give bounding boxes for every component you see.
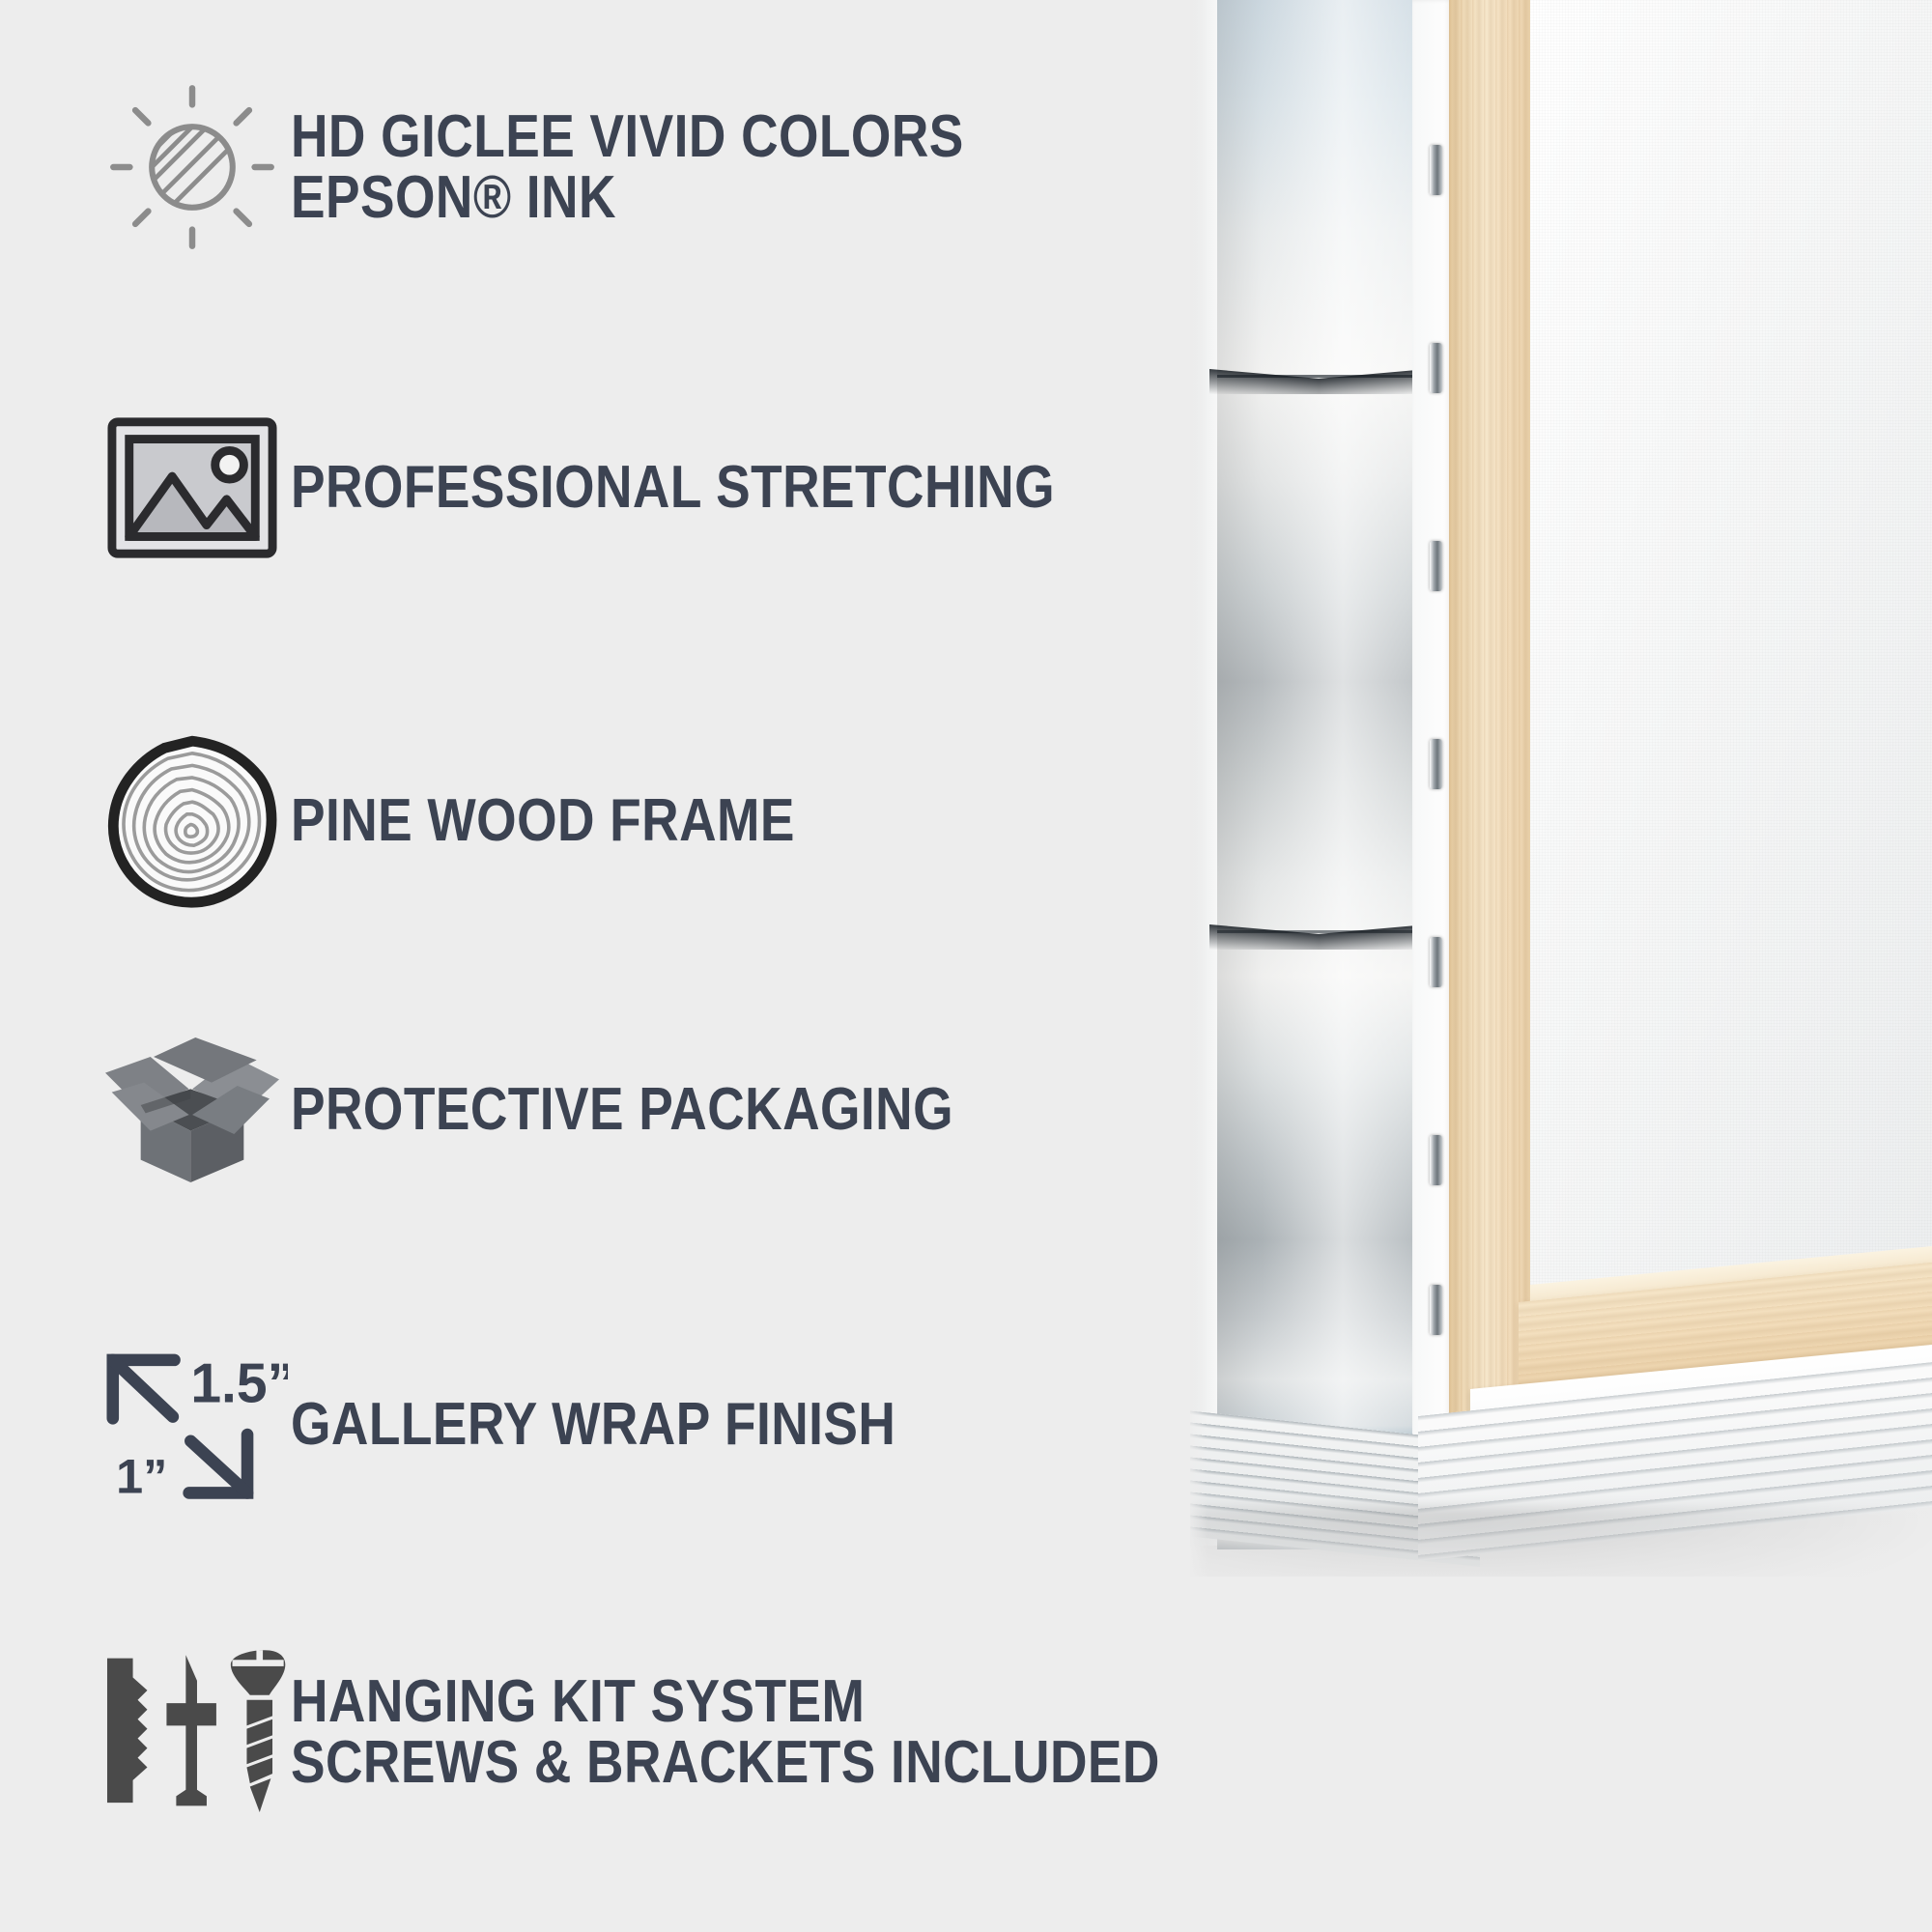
staple <box>1430 343 1442 393</box>
feature-label-line: HD GICLEE VIVID COLORS <box>291 106 964 167</box>
staple <box>1430 1135 1442 1185</box>
feature-label-hd-giclee: HD GICLEE VIVID COLORS EPSON® INK <box>291 106 964 228</box>
icon-slot <box>93 734 291 908</box>
feature-label-line: PROTECTIVE PACKAGING <box>291 1079 953 1140</box>
gallery-wrapped-edge <box>1217 0 1420 1549</box>
mitred-corner-chevron <box>1209 369 1428 394</box>
canvas-reverse <box>1530 0 1932 1372</box>
depth-arrows-icon: 1.5” 1” <box>97 1343 288 1507</box>
feature-row-gallery-wrap-finish: 1.5” 1” GALLERY WRAP FINISH <box>93 1343 994 1507</box>
icon-slot <box>93 75 291 259</box>
hardware-icon <box>98 1642 287 1822</box>
feature-label-protective-packaging: PROTECTIVE PACKAGING <box>291 1079 953 1140</box>
feature-row-hanging-kit: HANGING KIT SYSTEM SCREWS & BRACKETS INC… <box>93 1642 1301 1822</box>
feature-label-line: HANGING KIT SYSTEM <box>291 1671 1160 1732</box>
nail-icon <box>166 1655 215 1805</box>
staple <box>1430 541 1442 591</box>
photo-left-fade <box>1190 0 1207 1642</box>
icon-slot <box>93 415 291 560</box>
staple <box>1430 739 1442 789</box>
icon-slot <box>93 1024 291 1196</box>
feature-label-line: GALLERY WRAP FINISH <box>291 1394 895 1455</box>
sawtooth-hanger-icon <box>106 1659 147 1803</box>
icon-slot <box>93 1642 291 1822</box>
depth-label-primary: 1.5” <box>190 1353 288 1415</box>
feature-label-pine-wood-frame: PINE WOOD FRAME <box>291 790 795 851</box>
arrow-down-right <box>188 1435 246 1492</box>
photo-stage <box>1190 0 1932 1577</box>
pine-stretcher-bar-vertical <box>1449 0 1538 1449</box>
feature-label-gallery-wrap-finish: GALLERY WRAP FINISH <box>291 1394 895 1455</box>
staple <box>1430 937 1442 987</box>
feature-label-line: EPSON® INK <box>291 167 964 228</box>
tree-rings-icon <box>105 734 279 908</box>
infographic-root: HD GICLEE VIVID COLORS EPSON® INK PROFES… <box>0 0 1932 1932</box>
staple <box>1430 1285 1442 1335</box>
feature-row-hd-giclee: HD GICLEE VIVID COLORS EPSON® INK <box>93 75 1073 259</box>
framed-picture-icon <box>106 415 278 560</box>
open-box-icon <box>96 1024 289 1196</box>
screw-icon <box>230 1650 284 1812</box>
mitred-corner-chevron <box>1209 924 1428 950</box>
feature-label-professional-stretching: PROFESSIONAL STRETCHING <box>291 457 1055 518</box>
feature-row-pine-wood-frame: PINE WOOD FRAME <box>93 734 877 908</box>
feature-row-professional-stretching: PROFESSIONAL STRETCHING <box>93 415 1179 560</box>
staple <box>1430 145 1442 195</box>
depth-label-secondary: 1” <box>116 1448 167 1503</box>
feature-label-line: PROFESSIONAL STRETCHING <box>291 457 1055 518</box>
feature-label-hanging-kit: HANGING KIT SYSTEM SCREWS & BRACKETS INC… <box>291 1671 1160 1793</box>
feature-row-protective-packaging: PROTECTIVE PACKAGING <box>93 1024 1062 1196</box>
feature-label-line: PINE WOOD FRAME <box>291 790 795 851</box>
arrow-up-left <box>112 1360 174 1418</box>
sun-hatched-icon <box>100 75 284 259</box>
icon-slot: 1.5” 1” <box>93 1343 291 1507</box>
feature-label-line: SCREWS & BRACKETS INCLUDED <box>291 1732 1160 1793</box>
